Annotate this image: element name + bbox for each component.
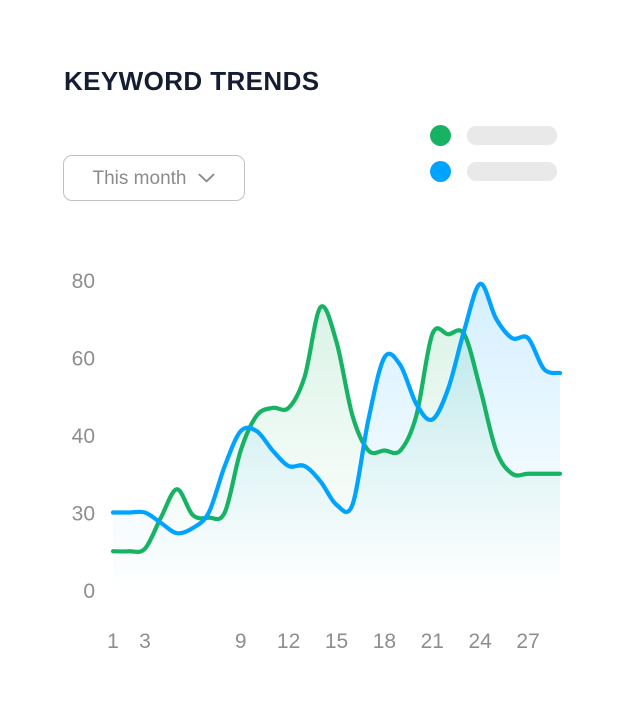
x-axis-tick-label: 21 [421, 630, 444, 653]
x-axis-tick-label: 15 [325, 630, 348, 653]
y-axis: 030406080 [72, 270, 95, 603]
x-axis-tick-label: 9 [235, 630, 247, 653]
x-axis-tick-label: 3 [139, 630, 151, 653]
y-axis-tick-label: 0 [83, 580, 95, 603]
x-axis: 139121518212427 [107, 630, 540, 653]
y-axis-tick-label: 60 [72, 348, 95, 371]
y-axis-tick-label: 30 [72, 503, 95, 526]
keyword-trends-card: KEYWORD TRENDS This month [0, 0, 622, 728]
y-axis-tick-label: 80 [72, 270, 95, 293]
chart-svg: 030406080 139121518212427 [0, 0, 622, 728]
x-axis-tick-label: 27 [516, 630, 539, 653]
x-axis-tick-label: 1 [107, 630, 119, 653]
x-axis-tick-label: 18 [373, 630, 396, 653]
keyword-trends-chart: 030406080 139121518212427 [0, 0, 622, 728]
chart-series [113, 284, 560, 590]
x-axis-tick-label: 24 [468, 630, 492, 653]
x-axis-tick-label: 12 [277, 630, 300, 653]
y-axis-tick-label: 40 [72, 425, 95, 448]
